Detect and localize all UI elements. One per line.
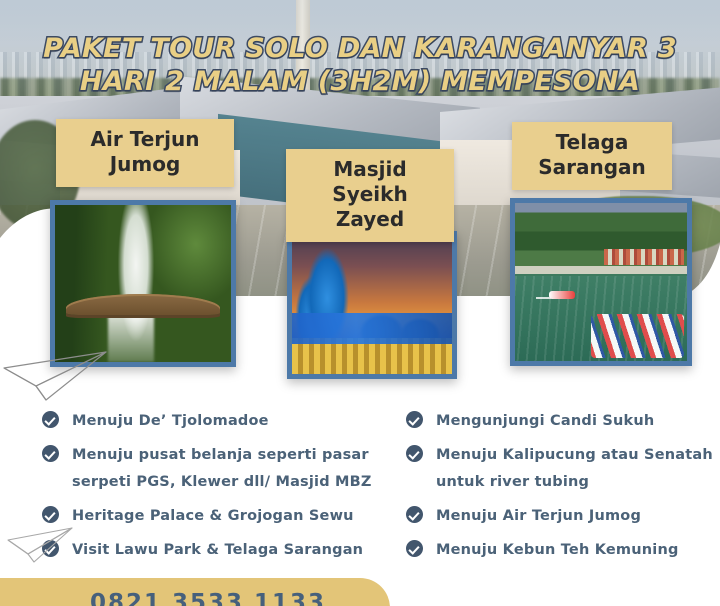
lake-boats-photo xyxy=(515,203,687,361)
paper-plane-icon xyxy=(2,338,114,402)
contact-phone-number[interactable]: 0821 3533 1133 xyxy=(90,590,326,606)
list-item-label: Heritage Palace & Grojogan Sewu xyxy=(72,503,354,530)
speedboat-icon xyxy=(549,291,575,299)
list-item-label: Visit Lawu Park & Telaga Sarangan xyxy=(72,537,363,564)
list-item: Menuju Air Terjun Jumog xyxy=(406,503,718,530)
check-circle-icon xyxy=(406,540,423,557)
itinerary-lists: Menuju De’ Tjolomadoe Menuju pusat belan… xyxy=(0,408,720,573)
itinerary-left-column: Menuju De’ Tjolomadoe Menuju pusat belan… xyxy=(42,408,402,571)
title-line-2: HARI 2 MALAM (3H2M) MEMPESONA xyxy=(0,65,720,98)
caption-air-terjun-jumog: Air Terjun Jumog xyxy=(56,119,234,187)
poster-canvas: PAKET TOUR SOLO DAN KARANGANYAR 3 HARI 2… xyxy=(0,0,720,606)
list-item: Heritage Palace & Grojogan Sewu xyxy=(42,503,402,530)
paper-plane-icon xyxy=(6,520,76,564)
caption-masjid-syeikh-zayed: Masjid Syeikh Zayed xyxy=(286,149,454,242)
check-circle-icon xyxy=(42,411,59,428)
list-item-label: Menuju Kalipucung atau Senatah untuk riv… xyxy=(436,442,718,496)
title-line-1: PAKET TOUR SOLO DAN KARANGANYAR 3 xyxy=(0,32,720,65)
destination-card-telaga[interactable] xyxy=(510,198,692,366)
list-item-label: Menuju Air Terjun Jumog xyxy=(436,503,641,530)
list-item-label: Menuju Kebun Teh Kemuning xyxy=(436,537,679,564)
destination-card-masjid[interactable] xyxy=(287,231,457,379)
page-title: PAKET TOUR SOLO DAN KARANGANYAR 3 HARI 2… xyxy=(0,32,720,98)
itinerary-right-column: Mengunjungi Candi Sukuh Menuju Kalipucun… xyxy=(406,408,718,571)
check-circle-icon xyxy=(42,445,59,462)
check-circle-icon xyxy=(406,506,423,523)
list-item: Menuju De’ Tjolomadoe xyxy=(42,408,402,435)
list-item: Menuju Kalipucung atau Senatah untuk riv… xyxy=(406,442,718,496)
list-item: Menuju pusat belanja seperti pasar serpe… xyxy=(42,442,402,496)
list-item-label: Menuju De’ Tjolomadoe xyxy=(72,408,269,435)
list-item-label: Mengunjungi Candi Sukuh xyxy=(436,408,654,435)
lake-village xyxy=(604,249,683,265)
list-item: Mengunjungi Candi Sukuh xyxy=(406,408,718,435)
check-circle-icon xyxy=(406,445,423,462)
caption-telaga-sarangan: Telaga Sarangan xyxy=(512,122,672,190)
list-item: Visit Lawu Park & Telaga Sarangan xyxy=(42,537,402,564)
list-item: Menuju Kebun Teh Kemuning xyxy=(406,537,718,564)
list-item-label: Menuju pusat belanja seperti pasar serpe… xyxy=(72,442,402,496)
mosque-night-photo xyxy=(292,236,452,374)
check-circle-icon xyxy=(406,411,423,428)
